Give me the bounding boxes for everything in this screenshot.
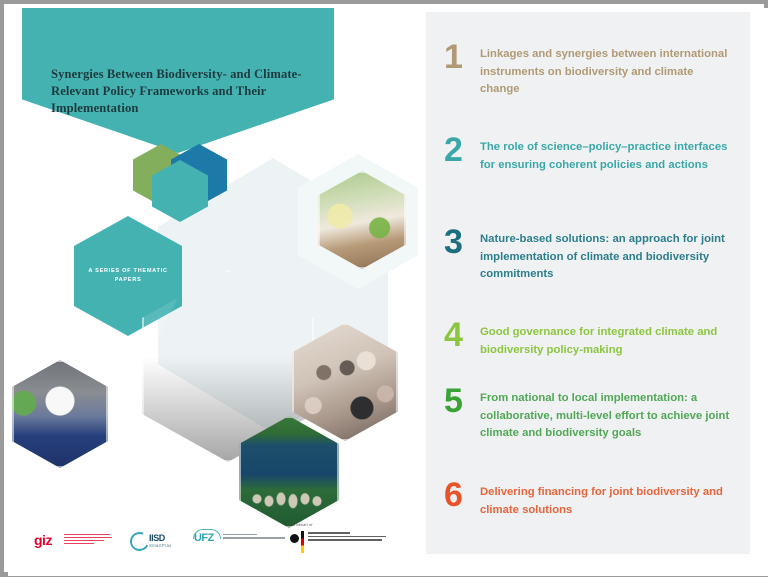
item-number: 4 xyxy=(444,320,480,350)
list-item[interactable]: 5 From national to local implementation:… xyxy=(444,386,734,443)
giz-subtitle-lines xyxy=(64,534,112,546)
item-number: 6 xyxy=(444,480,480,510)
plenary-hall-photo xyxy=(12,360,108,468)
item-text: Nature-based solutions: an approach for … xyxy=(480,227,734,284)
list-item[interactable]: 3 Nature-based solutions: an approach fo… xyxy=(444,227,734,284)
item-number: 3 xyxy=(444,227,480,257)
cover-panel: Synergies Between Biodiversity- and Clim… xyxy=(8,8,426,576)
giz-wordmark: giz xyxy=(34,532,52,548)
list-item[interactable]: 4 Good governance for integrated climate… xyxy=(444,320,734,359)
ufz-wordmark: UFZ xyxy=(194,532,214,544)
list-item[interactable]: 6 Delivering financing for joint biodive… xyxy=(444,480,734,519)
ufz-subtitle-lines xyxy=(223,534,285,540)
ufz-logo: UFZ xyxy=(194,532,289,548)
giz-logo: giz xyxy=(34,532,124,548)
screenshot-frame: Synergies Between Biodiversity- and Clim… xyxy=(0,0,768,577)
item-number: 5 xyxy=(444,386,480,416)
item-text: Linkages and synergies between internati… xyxy=(480,42,734,99)
series-badge-label: A SERIES OF THEMATIC PAPERS xyxy=(80,267,176,285)
german-flag-icon xyxy=(301,531,304,553)
item-number: 1 xyxy=(444,42,480,72)
thematic-papers-list: 1 Linkages and synergies between interna… xyxy=(426,12,750,554)
list-item[interactable]: 2 The role of science–policy–practice in… xyxy=(444,135,734,174)
bmu-logo: On behalf of xyxy=(290,523,313,553)
bmu-ministry-name-lines xyxy=(308,532,386,543)
item-text: The role of science–policy–practice inte… xyxy=(480,135,734,174)
list-item[interactable]: 1 Linkages and synergies between interna… xyxy=(444,42,734,99)
bmu-on-behalf-label: On behalf of xyxy=(290,523,313,527)
iisd-sublabel: SmartPrax xyxy=(149,543,172,548)
iisd-logo: IISD SmartPrax xyxy=(130,532,200,550)
logo-strip: giz IISD SmartPrax UFZ xyxy=(8,516,426,566)
item-number: 2 xyxy=(444,135,480,165)
cover-title: Synergies Between Biodiversity- and Clim… xyxy=(51,66,311,117)
german-eagle-icon xyxy=(290,534,299,543)
poster-page: Synergies Between Biodiversity- and Clim… xyxy=(8,8,768,576)
item-text: Delivering financing for joint biodivers… xyxy=(480,480,734,519)
item-text: From national to local implementation: a… xyxy=(480,386,734,443)
iisd-wordmark: IISD xyxy=(149,533,165,543)
item-text: Good governance for integrated climate a… xyxy=(480,320,734,359)
